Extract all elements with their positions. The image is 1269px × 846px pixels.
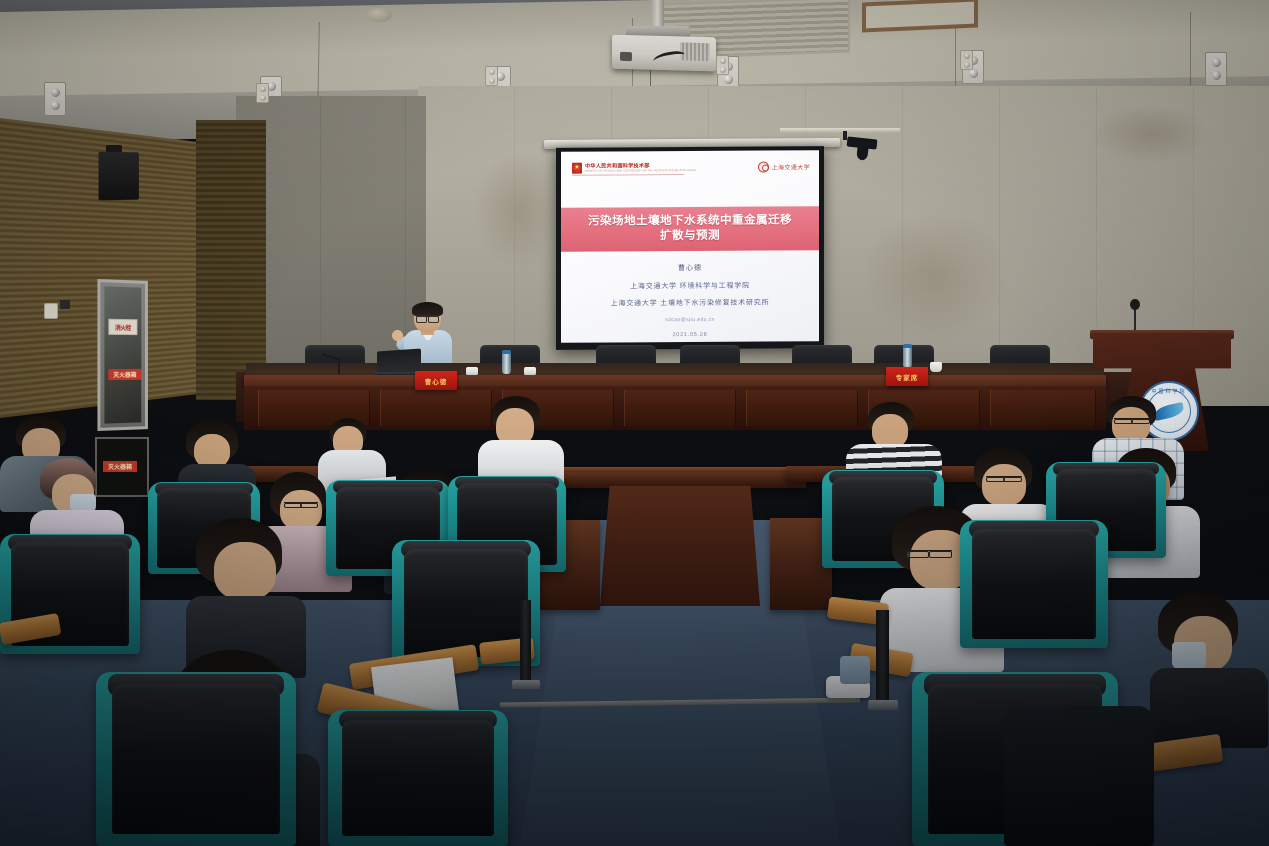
wall-outlet	[960, 50, 973, 70]
person-leg	[840, 656, 870, 684]
cabinet-label-bottom: 灭火器箱	[108, 369, 141, 380]
podium-emblem-top-text: 中国科学院	[1141, 388, 1197, 395]
seat-support-leg	[520, 600, 531, 686]
projection-screen: 中华人民共和国科学技术部 MINISTRY OF SCIENCE AND TEC…	[556, 146, 824, 350]
cabinet-glass	[104, 286, 141, 423]
seat-cushion	[342, 720, 493, 837]
presenter-email: sdcao@sjtu.edu.cn	[561, 316, 819, 324]
person-glasses-icon	[906, 550, 952, 556]
person-head	[194, 434, 230, 468]
auditorium-seat[interactable]	[328, 710, 508, 846]
person-glasses-icon	[1114, 418, 1150, 422]
auditorium-seat[interactable]	[96, 672, 296, 846]
person-torso	[1004, 706, 1154, 846]
ministry-logo: 中华人民共和国科学技术部 MINISTRY OF SCIENCE AND TEC…	[572, 161, 696, 173]
audience-person	[186, 518, 306, 648]
auditorium-seat[interactable]	[960, 520, 1108, 648]
speaker-nameplate-text: 曹心德	[425, 376, 448, 386]
university-logo-text: 上海交通大学	[772, 162, 810, 171]
person-glasses-icon	[986, 476, 1022, 480]
wall-outlet	[256, 83, 269, 103]
table-microphone-icon	[338, 358, 340, 374]
tea-cup	[930, 362, 942, 372]
presentation-slide: 中华人民共和国科学技术部 MINISTRY OF SCIENCE AND TEC…	[561, 150, 819, 343]
slide-title-band: 污染场地土壤地下水系统中重金属迁移 扩散与预测	[561, 206, 819, 252]
table-panel	[746, 390, 858, 426]
seat-foot	[868, 700, 898, 710]
person-head	[872, 414, 908, 448]
light-switch-panel[interactable]	[44, 303, 58, 319]
presenter-affiliation-1: 上海交通大学 环境科学与工程学院	[561, 280, 819, 292]
seat-cushion	[972, 529, 1096, 639]
audience-desk-row	[556, 470, 806, 488]
table-panel	[624, 390, 736, 426]
person-glasses-icon	[284, 502, 318, 506]
audience-person	[1150, 592, 1268, 722]
wood-slat-wall-panel-right	[196, 120, 266, 400]
speaker-nameplate: 曹心德	[415, 371, 457, 390]
face-mask-icon	[1172, 642, 1206, 670]
table-panel	[990, 390, 1096, 426]
table-panel	[380, 390, 492, 426]
slide-title-line-1: 污染场地土壤地下水系统中重金属迁移	[577, 213, 803, 229]
university-seal-icon	[758, 161, 769, 172]
wall-control-box	[60, 300, 70, 309]
ministry-logo-subtext: MINISTRY OF SCIENCE AND TECHNOLOGY OF TH…	[585, 169, 696, 173]
presenter-affiliation-2: 上海交通大学 土壤地下水污染修复技术研究所	[561, 297, 819, 309]
speaker-glasses-icon	[416, 315, 439, 320]
fire-equipment-cabinet[interactable]: 消火栓 灭火器箱	[97, 279, 147, 431]
wall-conduit	[780, 128, 900, 133]
wall-speaker-icon	[99, 152, 139, 201]
person-head	[214, 542, 276, 600]
slide-title-line-2: 扩散与预测	[577, 228, 803, 244]
smoke-detector-icon	[366, 8, 392, 22]
presenter-name: 曹心德	[561, 262, 819, 274]
national-emblem-icon	[572, 162, 582, 173]
person-head	[982, 464, 1026, 506]
wall-outlet	[716, 55, 729, 75]
slide-body: 曹心德 上海交通大学 环境科学与工程学院 上海交通大学 土壤地下水污染修复技术研…	[561, 262, 819, 339]
seat-support-leg	[876, 610, 889, 706]
wall-outlet	[485, 66, 498, 86]
university-logo: 上海交通大学	[758, 161, 810, 172]
wall-stain	[474, 150, 564, 270]
lecture-hall-scene: 消火栓 灭火器箱 灭火器箱 中华人民共和国科学技术部 MINISTRY OF S…	[0, 0, 1269, 846]
wall-stain	[860, 210, 1010, 340]
seat-cushion	[112, 684, 280, 834]
audience-person	[1004, 706, 1154, 846]
ceiling-downlight	[1205, 52, 1227, 86]
water-bottle	[502, 350, 511, 374]
presentation-date: 2021.05.28	[561, 331, 819, 339]
guest-nameplate-text: 专家席	[896, 372, 919, 382]
ceiling-access-hatch	[862, 0, 978, 33]
projector-lens-icon	[620, 52, 632, 61]
guest-nameplate: 专家席	[886, 367, 928, 386]
water-bottle	[903, 344, 912, 368]
cabinet-label-top: 消火栓	[108, 319, 137, 335]
audience-desk-edge	[556, 467, 806, 472]
speaker-hand	[392, 330, 403, 341]
ceiling-downlight	[44, 82, 66, 116]
wall-stain	[1090, 104, 1210, 164]
seat-foot	[512, 680, 540, 689]
desk-front-panel	[600, 486, 760, 606]
